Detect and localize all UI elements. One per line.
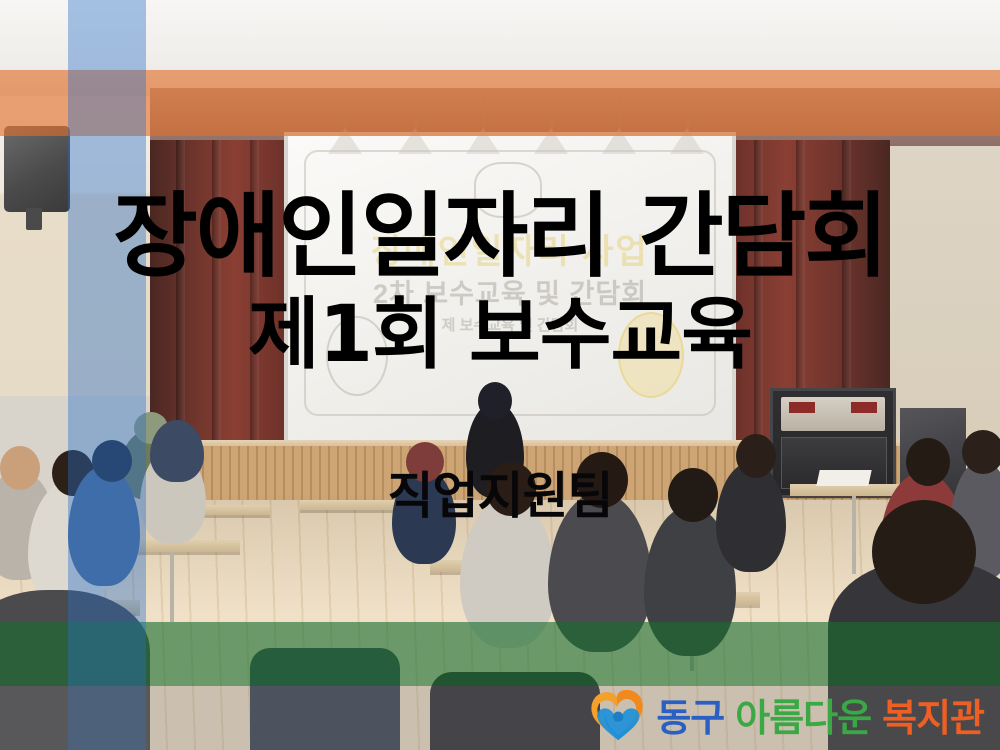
logo-word-areumdaun: 아름다운 bbox=[735, 687, 871, 742]
poster-canvas: 장애인일자리 사업 2차 보수교육 및 간담회 제 보수교육 및 간담회 bbox=[0, 0, 1000, 750]
orange-accent-band bbox=[0, 70, 1000, 136]
logo-wordmark: 동구 아름다운 복지관 bbox=[656, 687, 984, 742]
poster-title-line1: 장애인일자리 간담회 bbox=[0, 190, 1000, 284]
title-block: 장애인일자리 간담회 제1회 보수교육 bbox=[0, 190, 1000, 375]
green-accent-band bbox=[0, 622, 1000, 686]
poster-title-line2: 제1회 보수교육 bbox=[0, 296, 1000, 376]
logo-word-dongu: 동구 bbox=[656, 687, 724, 742]
logo-word-bokjigwan: 복지관 bbox=[882, 687, 984, 742]
presenter-head bbox=[478, 382, 512, 420]
amplifier-panel bbox=[781, 397, 885, 431]
dongu-heart-swirl-icon bbox=[588, 688, 646, 742]
poster-subtitle: 직업지원팀 bbox=[0, 456, 1000, 528]
organization-logo: 동구 아름다운 복지관 bbox=[588, 687, 984, 742]
table-leg bbox=[170, 552, 174, 622]
